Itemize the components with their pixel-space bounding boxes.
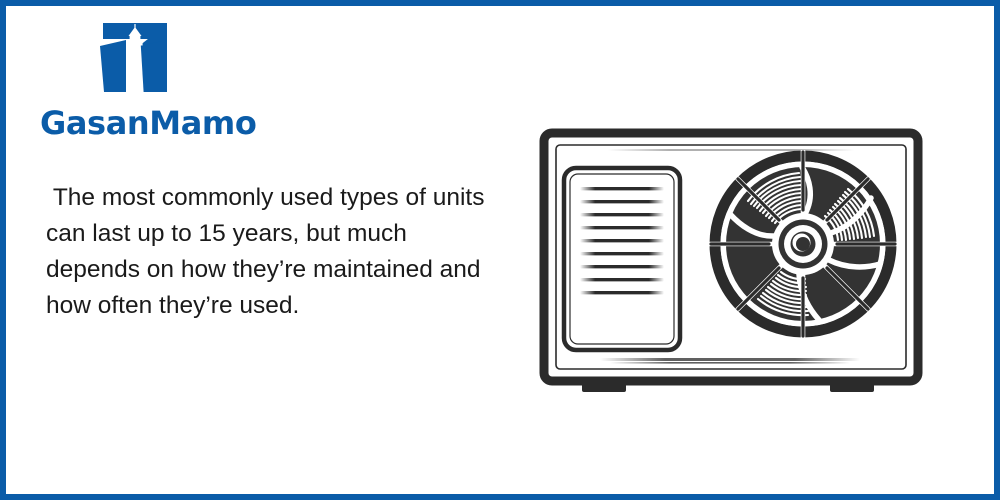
content-column: GasanMamo The most commonly used types o… <box>40 22 500 442</box>
card-border-bottom <box>0 494 1000 500</box>
lighthouse-icon <box>92 22 178 98</box>
louver-lines <box>580 187 664 294</box>
louver-panel <box>564 168 680 350</box>
brand-wordmark: GasanMamo <box>40 104 256 142</box>
card-border-left <box>0 0 6 500</box>
fan-assembly <box>709 150 897 338</box>
air-conditioner-illustration <box>530 100 950 400</box>
body-text: The most commonly used types of units ca… <box>46 180 498 324</box>
card-border-top <box>0 0 1000 6</box>
card-border-right <box>994 0 1000 500</box>
brand-lockup: GasanMamo <box>40 22 280 140</box>
promo-card: GasanMamo The most commonly used types o… <box>0 0 1000 500</box>
